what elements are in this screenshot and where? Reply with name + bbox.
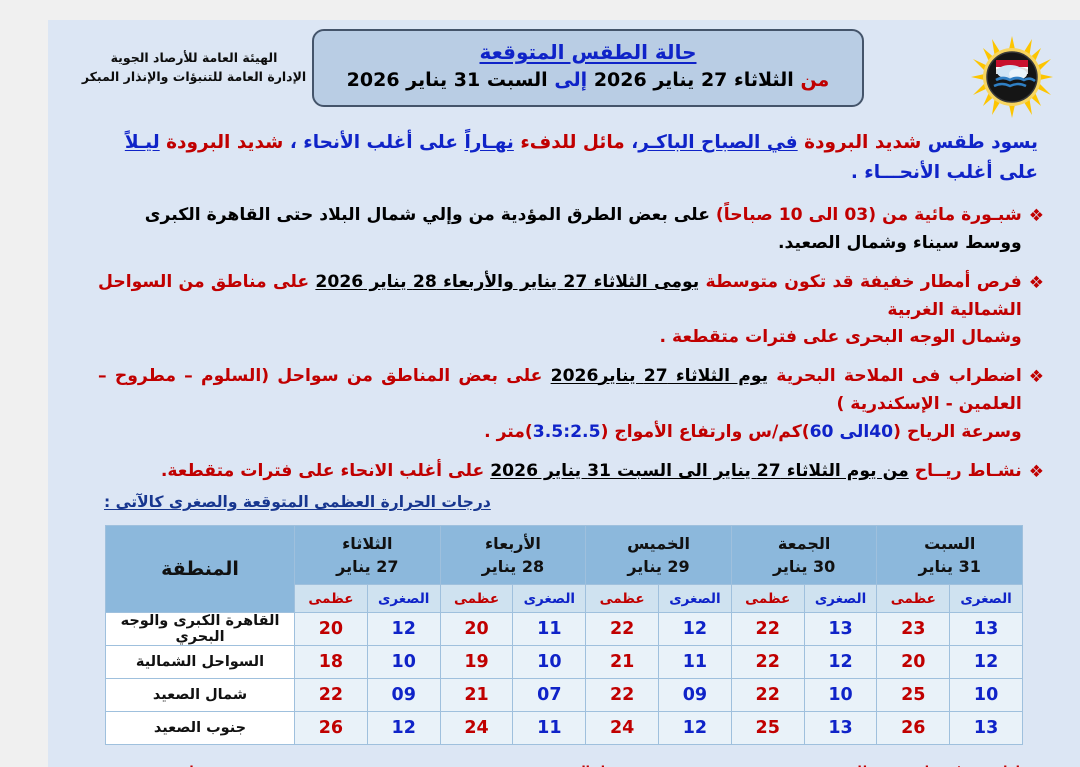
intro-seg-1: يسود طقس [928,132,1038,153]
cell-min: 13 [950,613,1023,646]
signature-name: محمود شاهين [108,761,306,767]
intro-seg-9: ليـلاً [125,132,160,153]
cell-min: 12 [367,712,440,745]
cell-region: القاهرة الكبرى والوجه البحري [106,613,295,646]
intro-seg-3: في الصباح الباكـر [638,132,797,153]
day-header-thursday: الخميس 29 يناير [586,526,732,585]
marine-unit: )متر . [484,422,533,442]
cell-min: 13 [804,712,877,745]
cell-min: 10 [804,679,877,712]
cell-max: 20 [440,613,513,646]
cell-max: 25 [731,712,804,745]
bullet-text-wind: نشـاط ريــاح من يوم الثلاثاء 27 يناير ال… [98,458,1022,486]
day-name: الثلاثاء [296,532,439,555]
region-column-header: المنطقة [106,526,295,613]
intro-seg-5: مائل للدفء [520,132,624,153]
cell-max: 19 [440,646,513,679]
bullet-text-fog: شبـورة مائية من (03 الى 10 صباحاً) على ب… [98,202,1022,258]
cell-max: 18 [295,646,368,679]
cell-max: 24 [586,712,659,745]
max-header-saturday: عظمى [877,585,950,613]
rain-line2: وشمال الوجه البحرى على فترات متقطعة . [98,324,1022,352]
marine-wind-label: وسرعة الرياح ( [893,422,1022,442]
table-row: 13 23 13 22 12 22 11 20 12 20 القاهرة ال… [106,613,1023,646]
day-date: 31 يناير [878,555,1021,578]
wind-lead: نشـاط ريــاح [915,461,1022,481]
marine-line2: وسرعة الرياح (40الى 60)كم/س وارتفاع الأم… [98,419,1022,447]
table-row: 13 26 13 25 12 24 11 24 12 26 جنوب الصعي… [106,712,1023,745]
day-header-tuesday: الثلاثاء 27 يناير [295,526,441,585]
intro-seg-10: على أغلب الأنحـــاء . [108,158,1038,188]
table-row: 10 25 10 22 09 22 07 21 09 22 شمال الصعي… [106,679,1023,712]
day-header-friday: الجمعة 30 يناير [731,526,877,585]
intro-seg-7: على أغلب الأنحاء ، [290,132,458,153]
max-header-friday: عظمى [731,585,804,613]
bullet-item-fog: ❖ شبـورة مائية من (03 الى 10 صباحاً) على… [74,202,1054,258]
date-end: السبت 31 يناير 2026 [347,69,548,91]
min-header-saturday: الصغرى [950,585,1023,613]
signature-name: عماد الدين محمود [428,761,708,767]
cell-min: 12 [659,613,732,646]
cell-min: 11 [659,646,732,679]
document-body: يسود طقس شديد البرودة في الصباح الباكـر،… [48,128,1080,767]
document-page: الهيئة العامة للأرصاد الجوية الإدارة الع… [48,20,1080,767]
cell-max: 22 [731,679,804,712]
max-header-wednesday: عظمى [440,585,513,613]
cell-min: 07 [513,679,586,712]
cell-max: 22 [295,679,368,712]
table-row: 12 20 12 22 11 21 10 19 10 18 السواحل ال… [106,646,1023,679]
cell-min: 10 [950,679,1023,712]
cell-min: 12 [950,646,1023,679]
organization-name: الهيئة العامة للأرصاد الجوية الإدارة الع… [68,48,320,87]
marine-wind-speed: 40الى 60 [810,422,894,442]
day-date: 30 يناير [733,555,876,578]
signature-chairman: لواء جوي / هشام حسن طاحون رئيس مجلس الإد… [830,761,1020,767]
org-line-1: الهيئة العامة للأرصاد الجوية [68,48,320,67]
wind-date: من يوم الثلاثاء 27 يناير الى السبت 31 ين… [490,461,909,481]
cell-max: 22 [586,613,659,646]
wind-tail: على أغلب الانحاء على فترات متقطعة. [161,461,484,481]
bullet-text-rain: فرص أمطار خفيفة قد تكون متوسطة يومى الثل… [98,269,1022,353]
intro-paragraph: يسود طقس شديد البرودة في الصباح الباكـر،… [74,128,1054,188]
title-date-range: من الثلاثاء 27 يناير 2026 إلى السبت 31 ي… [324,68,852,94]
cell-min: 11 [513,712,586,745]
cell-min: 10 [513,646,586,679]
intro-seg-2: شديد البرودة [804,132,921,153]
day-name: الأربعاء [442,532,585,555]
min-header-tuesday: الصغرى [367,585,440,613]
cell-min: 09 [659,679,732,712]
rain-lead: فرص أمطار خفيفة قد تكون متوسطة [706,272,1022,292]
marine-wave-height: 3.5:2.5 [533,422,601,442]
cell-min: 12 [367,613,440,646]
cell-max: 22 [731,613,804,646]
cell-min: 13 [804,613,877,646]
cell-min: 10 [367,646,440,679]
min-header-friday: الصغرى [804,585,877,613]
cell-max: 24 [440,712,513,745]
diamond-bullet-icon: ❖ [1029,459,1044,486]
fog-line2: ووسط سيناء وشمال الصعيد. [98,230,1022,258]
cell-min: 12 [804,646,877,679]
diamond-bullet-icon: ❖ [1029,270,1044,297]
cell-min: 12 [659,712,732,745]
day-header-saturday: السبت 31 يناير [877,526,1023,585]
marine-wave-label: )كم/س وارتفاع الأمواج ( [601,422,810,442]
diamond-bullet-icon: ❖ [1029,203,1044,230]
page-title: حالة الطقس المتوقعة [324,40,852,65]
cell-region: السواحل الشمالية [106,646,295,679]
signature-footer: محمود شاهين مدير عام التنبؤات والإنذار ا… [108,761,1020,767]
cell-min: 13 [950,712,1023,745]
ema-logo [966,34,1058,120]
bullet-text-marine: اضطراب فى الملاحة البحرية يوم الثلاثاء 2… [98,363,1022,447]
title-box: حالة الطقس المتوقعة من الثلاثاء 27 يناير… [312,29,864,107]
document-header: الهيئة العامة للأرصاد الجوية الإدارة الع… [48,20,1080,128]
table-header-days: السبت 31 يناير الجمعة 30 يناير الخميس 29… [106,526,1023,585]
rain-date: يومى الثلاثاء 27 يناير والأربعاء 28 يناي… [315,272,699,292]
signature-forecast-director: محمود شاهين مدير عام التنبؤات والإنذار ا… [108,761,306,767]
temperature-table: السبت 31 يناير الجمعة 30 يناير الخميس 29… [105,525,1023,745]
bullet-item-rain: ❖ فرص أمطار خفيفة قد تكون متوسطة يومى ال… [74,269,1054,353]
diamond-bullet-icon: ❖ [1029,364,1044,391]
cell-region: شمال الصعيد [106,679,295,712]
cell-max: 25 [877,679,950,712]
intro-seg-8: شديد البرودة [166,132,283,153]
signature-name: لواء جوي / هشام حسن طاحون [830,761,1020,767]
min-header-wednesday: الصغرى [513,585,586,613]
bullet-item-wind: ❖ نشـاط ريــاح من يوم الثلاثاء 27 يناير … [74,458,1054,486]
day-name: الجمعة [733,532,876,555]
cell-max: 23 [877,613,950,646]
bullet-item-marine: ❖ اضطراب فى الملاحة البحرية يوم الثلاثاء… [74,363,1054,447]
cell-max: 20 [877,646,950,679]
max-header-thursday: عظمى [586,585,659,613]
date-from-label: من [800,69,829,91]
cell-max: 21 [586,646,659,679]
day-name: السبت [878,532,1021,555]
signature-central-head: عماد الدين محمود رئيس الإدارة المركزية ل… [428,761,708,767]
marine-date: يوم الثلاثاء 27 يناير2026 [551,366,768,386]
day-name: الخميس [587,532,730,555]
forecast-bullets: ❖ شبـورة مائية من (03 الى 10 صباحاً) على… [74,202,1054,486]
cell-max: 26 [295,712,368,745]
cell-max: 22 [586,679,659,712]
cell-max: 20 [295,613,368,646]
fog-rest: على بعض الطرق المؤدية من وإلي شمال البلا… [145,205,710,225]
date-start: الثلاثاء 27 يناير 2026 [594,69,794,91]
intro-seg-6: نهـاراً [464,132,513,153]
fog-lead: شبـورة مائية من (03 الى 10 صباحاً) [716,205,1022,225]
cell-max: 21 [440,679,513,712]
day-date: 27 يناير [296,555,439,578]
date-to-label: إلى [554,69,587,91]
org-line-2: الإدارة العامة للتنبؤات والإنذار المبكر [68,67,320,86]
day-date: 28 يناير [442,555,585,578]
cell-region: جنوب الصعيد [106,712,295,745]
cell-min: 11 [513,613,586,646]
cell-min: 09 [367,679,440,712]
min-header-thursday: الصغرى [659,585,732,613]
max-header-tuesday: عظمى [295,585,368,613]
cell-max: 22 [731,646,804,679]
marine-lead: اضطراب فى الملاحة البحرية [776,366,1021,386]
table-caption: درجات الحرارة العظمى المتوقعة والصغرى كا… [74,493,1054,511]
day-header-wednesday: الأربعاء 28 يناير [440,526,586,585]
cell-max: 26 [877,712,950,745]
day-date: 29 يناير [587,555,730,578]
